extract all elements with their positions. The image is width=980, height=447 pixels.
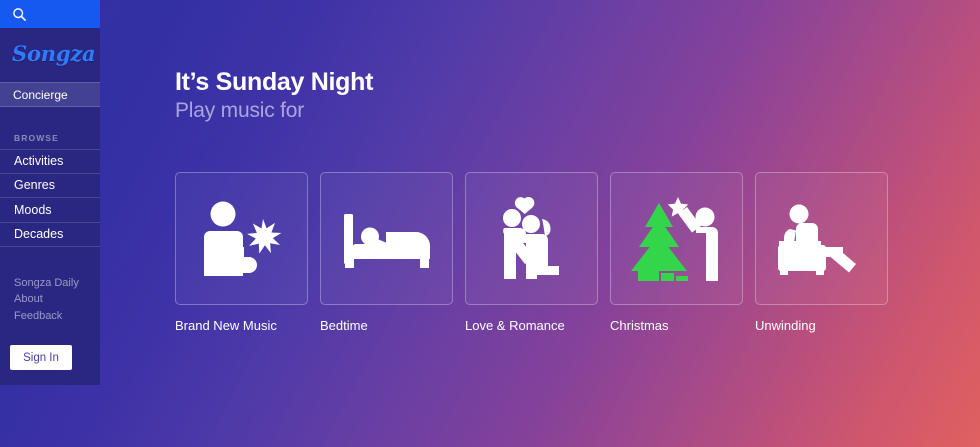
sidebar-item-label: Genres xyxy=(14,178,55,192)
tile-label: Brand New Music xyxy=(175,318,308,333)
person-with-starburst-icon xyxy=(199,197,285,281)
category-tile-grid: Brand New Music xyxy=(175,172,888,333)
tile-button[interactable] xyxy=(175,172,308,305)
christmas-tree-icon xyxy=(629,193,725,285)
tile-christmas: Christmas xyxy=(610,172,743,333)
couple-with-heart-icon xyxy=(495,195,569,283)
tile-button[interactable] xyxy=(465,172,598,305)
tile-button[interactable] xyxy=(755,172,888,305)
sidebar: Songza Concierge BROWSE Activities Genre… xyxy=(0,0,100,385)
sign-in-button[interactable]: Sign In xyxy=(10,345,72,370)
tile-unwinding: Unwinding xyxy=(755,172,888,333)
person-in-bed-icon xyxy=(342,208,432,270)
sidebar-item-concierge[interactable]: Concierge xyxy=(0,82,100,107)
sidebar-footer-links: Songza Daily About Feedback xyxy=(14,275,100,324)
tile-label: Bedtime xyxy=(320,318,453,333)
tile-button[interactable] xyxy=(610,172,743,305)
songza-logo[interactable]: Songza xyxy=(12,43,95,64)
sidebar-item-label: Concierge xyxy=(13,88,68,102)
tile-button[interactable] xyxy=(320,172,453,305)
tile-bedtime: Bedtime xyxy=(320,172,453,333)
search-bar[interactable] xyxy=(0,0,100,28)
page-title: It’s Sunday Night xyxy=(175,68,373,97)
sidebar-item-genres[interactable]: Genres xyxy=(0,174,100,199)
main-content: It’s Sunday Night Play music for xyxy=(0,0,980,447)
tile-label: Christmas xyxy=(610,318,743,333)
tile-brand-new-music: Brand New Music xyxy=(175,172,308,333)
sidebar-item-moods[interactable]: Moods xyxy=(0,198,100,223)
search-input[interactable] xyxy=(27,0,174,28)
tile-love-romance: Love & Romance xyxy=(465,172,598,333)
page-subtitle: Play music for xyxy=(175,99,304,123)
songza-app: Songza Concierge BROWSE Activities Genre… xyxy=(0,0,980,447)
search-icon xyxy=(12,7,27,22)
tile-label: Unwinding xyxy=(755,318,888,333)
browse-section-label: BROWSE xyxy=(14,133,59,143)
sidebar-item-label: Activities xyxy=(14,154,63,168)
link-about[interactable]: About xyxy=(14,291,100,307)
sidebar-item-activities[interactable]: Activities xyxy=(0,149,100,174)
sidebar-item-label: Moods xyxy=(14,203,52,217)
sidebar-item-decades[interactable]: Decades xyxy=(0,223,100,248)
link-feedback[interactable]: Feedback xyxy=(14,308,100,324)
tile-label: Love & Romance xyxy=(465,318,598,333)
browse-nav-list: Activities Genres Moods Decades xyxy=(0,149,100,247)
sidebar-item-label: Decades xyxy=(14,227,63,241)
person-in-armchair-icon xyxy=(776,201,868,277)
link-songza-daily[interactable]: Songza Daily xyxy=(14,275,100,291)
